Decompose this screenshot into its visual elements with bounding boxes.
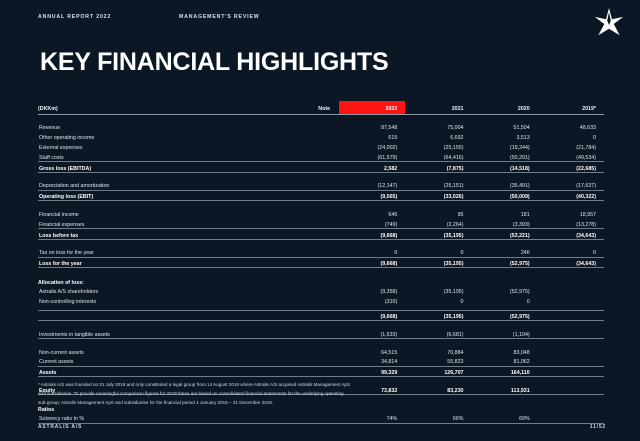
table-row: Non-current assets64,51570,88483,048 <box>38 346 604 356</box>
row-note <box>297 275 339 286</box>
value-2021: (35,195) <box>405 310 471 321</box>
value-2019: 18,957 <box>538 208 604 218</box>
column-header-2022: 2022 <box>339 101 405 114</box>
value-2021 <box>405 275 471 286</box>
value-2019 <box>538 296 604 306</box>
row-note <box>297 122 339 132</box>
row-note <box>297 218 339 228</box>
value-2020: (52,975) <box>471 286 537 296</box>
row-note <box>297 151 339 161</box>
value-2019 <box>538 413 604 423</box>
value-2020: (52,975) <box>471 257 537 268</box>
value-2020 <box>471 275 537 286</box>
value-2021: 6,692 <box>405 132 471 142</box>
row-label: Non-current assets <box>38 346 297 356</box>
table-row: Astralis A/S shareholders(9,358)(35,195)… <box>38 286 604 296</box>
value-2022: 615 <box>339 132 405 142</box>
value-2019: 48,633 <box>538 122 604 132</box>
row-note <box>297 257 339 268</box>
value-2022: (24,002) <box>339 142 405 152</box>
footer-company: ASTRALIS A/S <box>38 424 82 430</box>
table-row: Loss for the year(9,668)(35,195)(52,975)… <box>38 257 604 268</box>
row-spacer <box>38 339 604 347</box>
value-2019 <box>538 310 604 321</box>
table-section-heading: Allocation of loss: <box>38 275 604 286</box>
row-label: Investments in tangible assets <box>38 328 297 338</box>
value-2022: (12,147) <box>339 180 405 190</box>
row-label: Current assets <box>38 356 297 366</box>
row-label: Other operating income <box>38 132 297 142</box>
value-2020: (50,009) <box>471 190 537 201</box>
footnote-line-1: * Astralis A/S was founded on 31 July 20… <box>38 381 553 390</box>
table-row: Gross loss (EBITDA)2,582(7,875)(14,518)(… <box>38 162 604 173</box>
table-header-row: (DKKm) Note 2022 2021 2020 2019* <box>38 101 604 114</box>
row-label: Loss for the year <box>38 257 297 268</box>
top-header: ANNUAL REPORT 2022 MANAGEMENT'S REVIEW <box>38 14 622 28</box>
value-2019: (21,784) <box>538 142 604 152</box>
value-2022: 74% <box>339 413 405 423</box>
value-2020: (53,221) <box>471 229 537 240</box>
value-2022 <box>339 275 405 286</box>
row-spacer <box>38 239 604 247</box>
value-2020: 69% <box>471 413 537 423</box>
value-2022: 2,582 <box>339 162 405 173</box>
row-note <box>297 180 339 190</box>
table-row: Loss before tax(9,668)(35,195)(53,221)(3… <box>38 229 604 240</box>
row-note <box>297 247 339 257</box>
value-2019 <box>538 366 604 377</box>
value-2019: (17,637) <box>538 180 604 190</box>
value-2022: (61,579) <box>339 151 405 161</box>
page-title: KEY FINANCIAL HIGHLIGHTS <box>40 48 388 77</box>
value-2020: 83,048 <box>471 346 537 356</box>
value-2019: (34,643) <box>538 229 604 240</box>
row-label: Depreciation and amortization <box>38 180 297 190</box>
column-header-2020: 2020 <box>471 101 537 114</box>
footnote-line-3: sub-group; Astralis Management ApS and s… <box>38 399 553 408</box>
row-label <box>38 310 297 321</box>
value-2022: 0 <box>339 247 405 257</box>
value-2021: 66% <box>405 413 471 423</box>
table-row: Investments in tangible assets(1,633)(6,… <box>38 328 604 338</box>
value-2020: (52,975) <box>471 310 537 321</box>
row-label: Allocation of loss: <box>38 275 297 286</box>
row-note <box>297 208 339 218</box>
value-2022: 64,515 <box>339 346 405 356</box>
slide-page: ANNUAL REPORT 2022 MANAGEMENT'S REVIEW K… <box>0 0 640 441</box>
table-row: Financial expenses(749)(2,264)(3,393)(13… <box>38 218 604 228</box>
row-spacer <box>38 201 604 209</box>
row-note <box>297 366 339 377</box>
row-spacer <box>38 115 604 123</box>
table-row: Financial income6469518118,957 <box>38 208 604 218</box>
value-2021: (25,151) <box>405 180 471 190</box>
page-footer: ASTRALIS A/S 11/52 <box>38 424 606 430</box>
table-row: Assets99,329126,707164,110 <box>38 366 604 377</box>
value-2020: (14,518) <box>471 162 537 173</box>
value-2019 <box>538 286 604 296</box>
row-note <box>297 190 339 201</box>
row-note <box>297 286 339 296</box>
row-note <box>297 229 339 240</box>
value-2021: 0 <box>405 247 471 257</box>
table-row: External expenses(24,002)(25,155)(19,244… <box>38 142 604 152</box>
value-2019: (49,534) <box>538 151 604 161</box>
column-header-2021: 2021 <box>405 101 471 114</box>
value-2021: (7,875) <box>405 162 471 173</box>
table-row: Solvency ratio in %74%66%69% <box>38 413 604 423</box>
value-2022: (9,668) <box>339 229 405 240</box>
value-2020: 246 <box>471 247 537 257</box>
footnote: * Astralis A/S was founded on 31 July 20… <box>38 381 553 408</box>
table-row: Current assets34,81455,82381,062 <box>38 356 604 366</box>
value-2020: 81,062 <box>471 356 537 366</box>
row-spacer <box>38 268 604 276</box>
value-2021: 75,004 <box>405 122 471 132</box>
row-label: Assets <box>38 366 297 377</box>
header-kicker-section: MANAGEMENT'S REVIEW <box>179 14 260 20</box>
table-row: Staff costs(61,579)(64,416)(50,291)(49,5… <box>38 151 604 161</box>
value-2021: 95 <box>405 208 471 218</box>
row-label: Gross loss (EBITDA) <box>38 162 297 173</box>
value-2020: (19,244) <box>471 142 537 152</box>
table-row: Other operating income6156,6923,5130 <box>38 132 604 142</box>
row-note <box>297 310 339 321</box>
value-2021: (64,416) <box>405 151 471 161</box>
value-2019: 0 <box>538 247 604 257</box>
row-note <box>297 356 339 366</box>
row-label: Non-controlling interests <box>38 296 297 306</box>
row-note <box>297 132 339 142</box>
value-2022: 646 <box>339 208 405 218</box>
footer-page-number: 11/52 <box>590 424 606 430</box>
row-spacer <box>38 321 604 329</box>
value-2019: 0 <box>538 132 604 142</box>
value-2020: (50,291) <box>471 151 537 161</box>
row-spacer <box>38 172 604 180</box>
value-2021: (33,026) <box>405 190 471 201</box>
footnote-line-2: and subsidiaries. To provide meaningful … <box>38 390 553 399</box>
header-kicker-report: ANNUAL REPORT 2022 <box>38 14 111 20</box>
value-2021: 70,884 <box>405 346 471 356</box>
row-label: Solvency ratio in % <box>38 413 297 423</box>
row-note <box>297 413 339 423</box>
value-2021: 0 <box>405 296 471 306</box>
row-label: Tax on loss for the year <box>38 247 297 257</box>
row-label: Staff costs <box>38 151 297 161</box>
value-2020: (35,491) <box>471 180 537 190</box>
value-2022: (749) <box>339 218 405 228</box>
value-2019 <box>538 356 604 366</box>
table-row: Depreciation and amortization(12,147)(25… <box>38 180 604 190</box>
value-2022: (310) <box>339 296 405 306</box>
value-2020: 164,110 <box>471 366 537 377</box>
value-2019: (13,278) <box>538 218 604 228</box>
value-2019 <box>538 328 604 338</box>
value-2020: (1,104) <box>471 328 537 338</box>
table-row: Non-controlling interests(310)00 <box>38 296 604 306</box>
value-2022: 99,329 <box>339 366 405 377</box>
value-2022: 34,814 <box>339 356 405 366</box>
financial-highlights-table: (DKKm) Note 2022 2021 2020 2019* Revenue… <box>38 101 604 424</box>
unit-label: (DKKm) <box>38 101 297 114</box>
row-note <box>297 328 339 338</box>
column-header-2019: 2019* <box>538 101 604 114</box>
value-2022: (9,668) <box>339 257 405 268</box>
value-2021: 126,707 <box>405 366 471 377</box>
value-2021: (6,681) <box>405 328 471 338</box>
row-label: Astralis A/S shareholders <box>38 286 297 296</box>
row-label: External expenses <box>38 142 297 152</box>
row-label: Revenue <box>38 122 297 132</box>
value-2019 <box>538 275 604 286</box>
row-label: Operating loss (EBIT) <box>38 190 297 201</box>
value-2021: (35,195) <box>405 286 471 296</box>
row-note <box>297 346 339 356</box>
column-header-note: Note <box>297 101 339 114</box>
value-2020: (3,393) <box>471 218 537 228</box>
row-label: Financial income <box>38 208 297 218</box>
value-2020: 51,504 <box>471 122 537 132</box>
value-2019: (22,685) <box>538 162 604 173</box>
table-row: Tax on loss for the year002460 <box>38 247 604 257</box>
row-note <box>297 162 339 173</box>
value-2022: (9,565) <box>339 190 405 201</box>
row-label: Financial expenses <box>38 218 297 228</box>
table-row: (9,668)(35,195)(52,975) <box>38 310 604 321</box>
value-2021: (35,195) <box>405 229 471 240</box>
value-2020: 181 <box>471 208 537 218</box>
row-note <box>297 296 339 306</box>
value-2022: (9,668) <box>339 310 405 321</box>
value-2021: (35,195) <box>405 257 471 268</box>
table-row: Revenue87,54875,00451,50448,633 <box>38 122 604 132</box>
value-2022: (9,358) <box>339 286 405 296</box>
row-label: Loss before tax <box>38 229 297 240</box>
value-2020: 3,513 <box>471 132 537 142</box>
row-note <box>297 142 339 152</box>
value-2019: (34,643) <box>538 257 604 268</box>
table-row: Operating loss (EBIT)(9,565)(33,026)(50,… <box>38 190 604 201</box>
value-2019: (40,322) <box>538 190 604 201</box>
value-2021: (25,155) <box>405 142 471 152</box>
value-2021: (2,264) <box>405 218 471 228</box>
astralis-star-logo <box>594 8 624 40</box>
value-2020: 0 <box>471 296 537 306</box>
value-2019 <box>538 346 604 356</box>
value-2022: (1,633) <box>339 328 405 338</box>
value-2021: 55,823 <box>405 356 471 366</box>
value-2022: 87,548 <box>339 122 405 132</box>
